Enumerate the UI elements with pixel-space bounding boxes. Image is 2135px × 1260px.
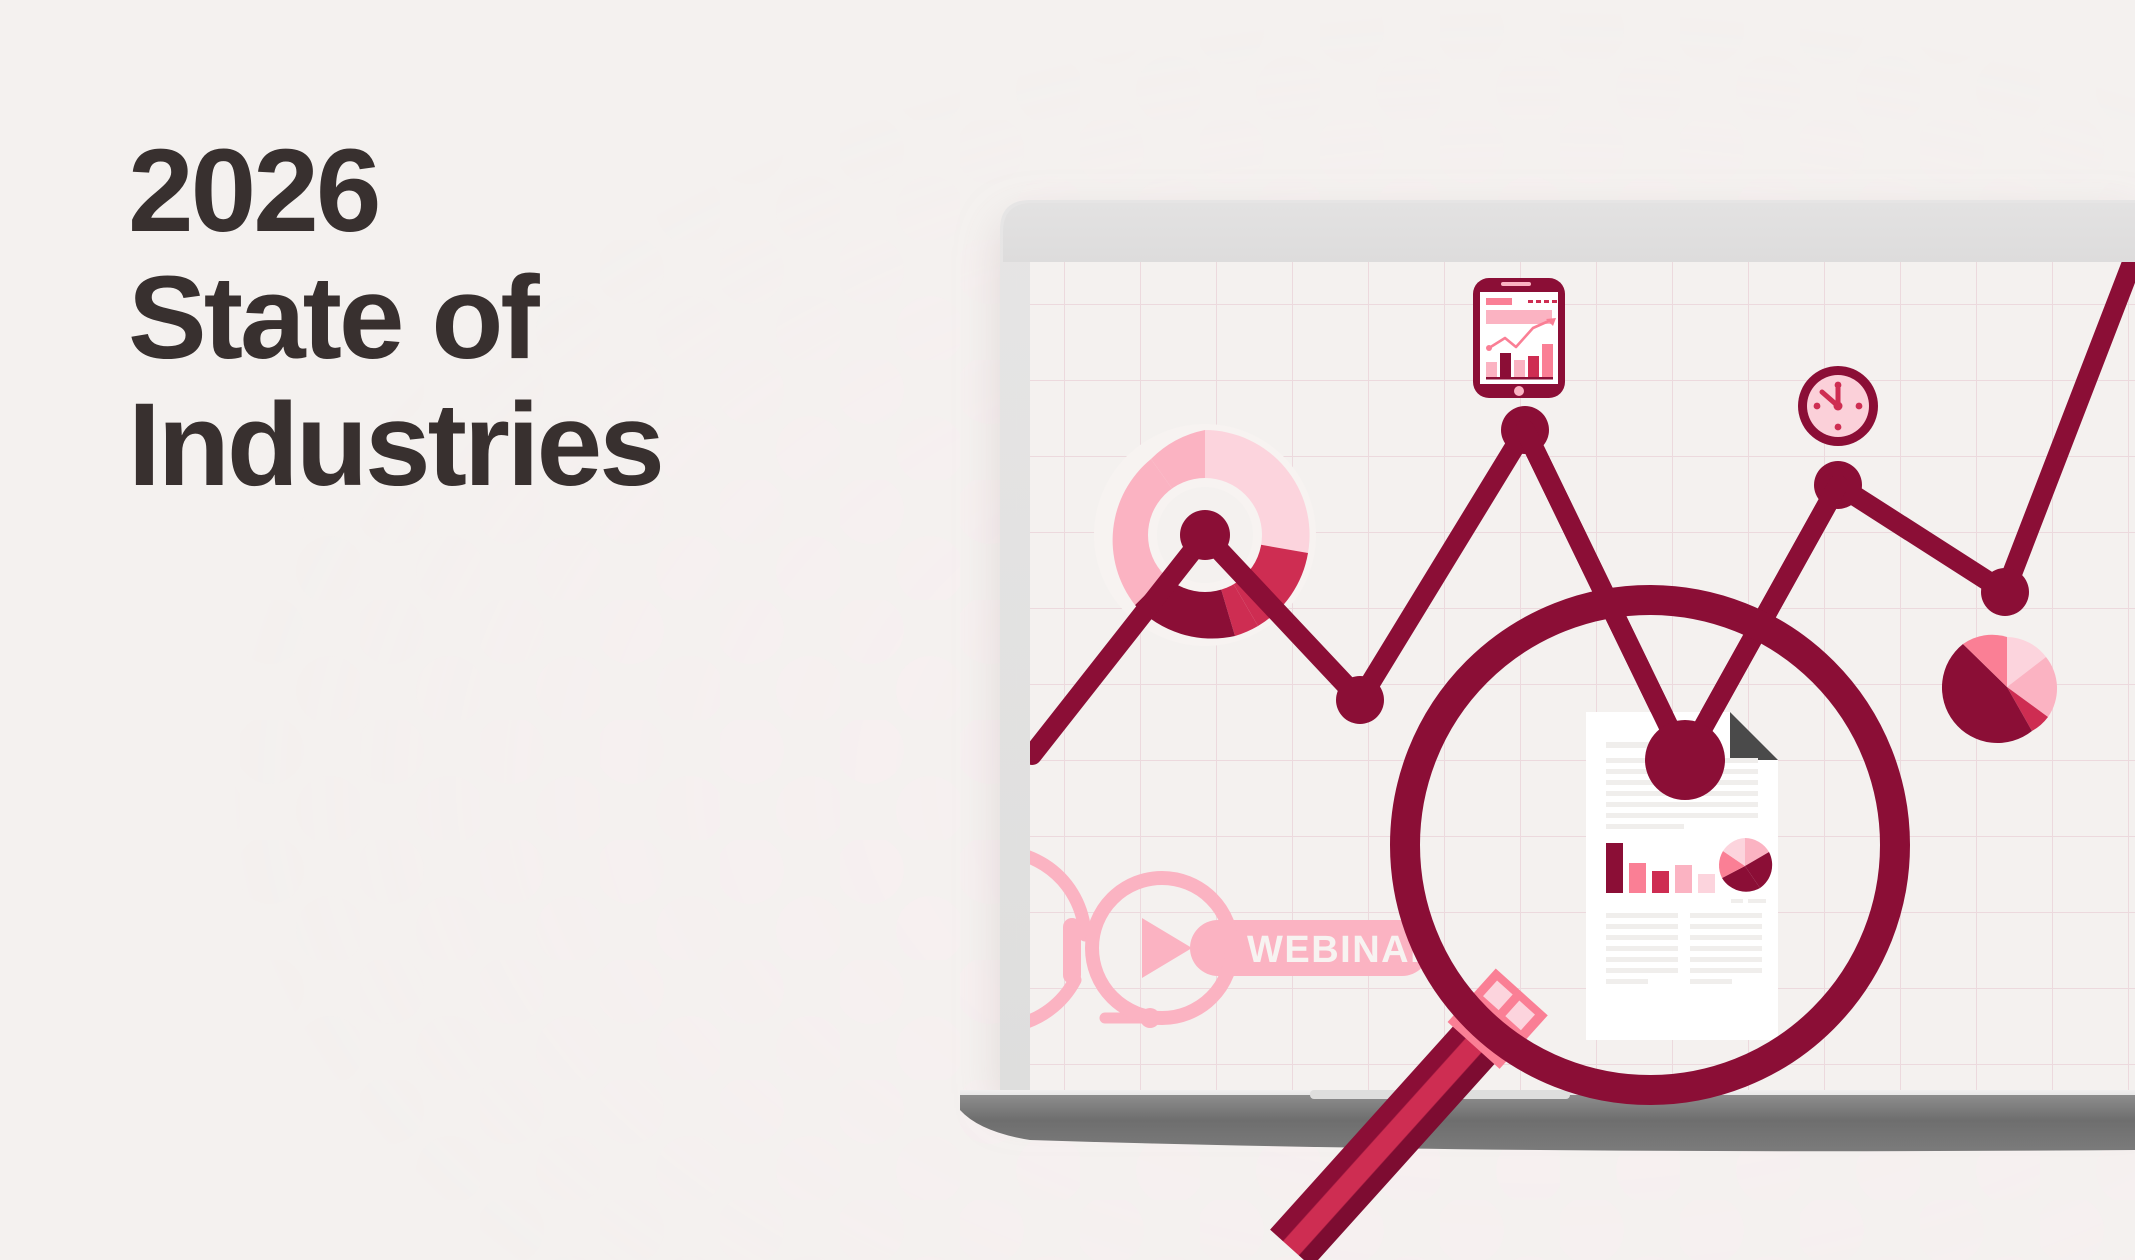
clock-icon (1798, 366, 1878, 446)
clock-marker-3 (1856, 403, 1863, 410)
document-text-line (1690, 957, 1762, 962)
data-point-marker (1180, 510, 1230, 560)
laptop-screen: WEBINAR (909, 255, 2135, 1090)
clock-marker-6 (1835, 424, 1842, 431)
document-text-line (1690, 946, 1762, 951)
phone-home-button (1514, 386, 1524, 396)
headline-line-1: 2026 (128, 128, 948, 255)
headline-line-2: State of (128, 255, 948, 382)
document-text-line (1606, 946, 1678, 951)
document-text-line (1690, 935, 1762, 940)
laptop-base-body (960, 1095, 2135, 1151)
document-text-line (1690, 924, 1762, 929)
clock-center-pin (1834, 402, 1843, 411)
document-text-line (1606, 935, 1678, 940)
phone-axis (1486, 377, 1553, 380)
headline-line-3: Industries (128, 382, 948, 509)
phone-dash (1528, 300, 1533, 303)
phone-banner (1486, 310, 1552, 324)
promo-banner: 2026 State of Industries (0, 0, 2135, 1260)
clock-marker-9 (1814, 403, 1821, 410)
phone-dash (1552, 300, 1557, 303)
laptop-base (960, 1090, 2135, 1151)
document-text-line (1606, 913, 1678, 918)
document-text-line (1606, 924, 1678, 929)
phone-dash (1544, 300, 1549, 303)
phone-trend-dot (1486, 345, 1492, 351)
document-text-line (1606, 824, 1684, 829)
document-pie-legend (1731, 899, 1743, 903)
document-pie-legend (1748, 899, 1766, 903)
phone-bar (1486, 362, 1497, 377)
phone-bar (1528, 356, 1539, 377)
document-text-line (1606, 957, 1678, 962)
phone-dash (1536, 300, 1541, 303)
document-bar (1606, 843, 1623, 893)
document-text-line (1606, 979, 1648, 984)
data-point-marker-highlight (1645, 720, 1725, 800)
document-text-line (1606, 968, 1678, 973)
document-bar (1629, 863, 1646, 893)
data-point-marker (1981, 568, 2029, 616)
smartphone-chart-icon (1473, 278, 1565, 398)
document-bar (1698, 874, 1715, 893)
document-text-line (1690, 979, 1732, 984)
document-bar (1675, 865, 1692, 893)
laptop-top-bezel (1003, 203, 2135, 262)
document-bar (1652, 871, 1669, 893)
phone-header-bar (1486, 298, 1512, 305)
document-text-line (1606, 813, 1758, 818)
headset-earpiece-icon (1063, 918, 1081, 984)
phone-bar (1500, 353, 1511, 377)
phone-bar (1514, 360, 1525, 377)
document-text-line (1690, 968, 1762, 973)
phone-bar (1542, 344, 1553, 377)
phone-speaker (1501, 282, 1531, 286)
document-text-line (1606, 802, 1758, 807)
document-text-line (1690, 913, 1762, 918)
data-point-marker (1336, 676, 1384, 724)
page-title: 2026 State of Industries (128, 128, 948, 509)
